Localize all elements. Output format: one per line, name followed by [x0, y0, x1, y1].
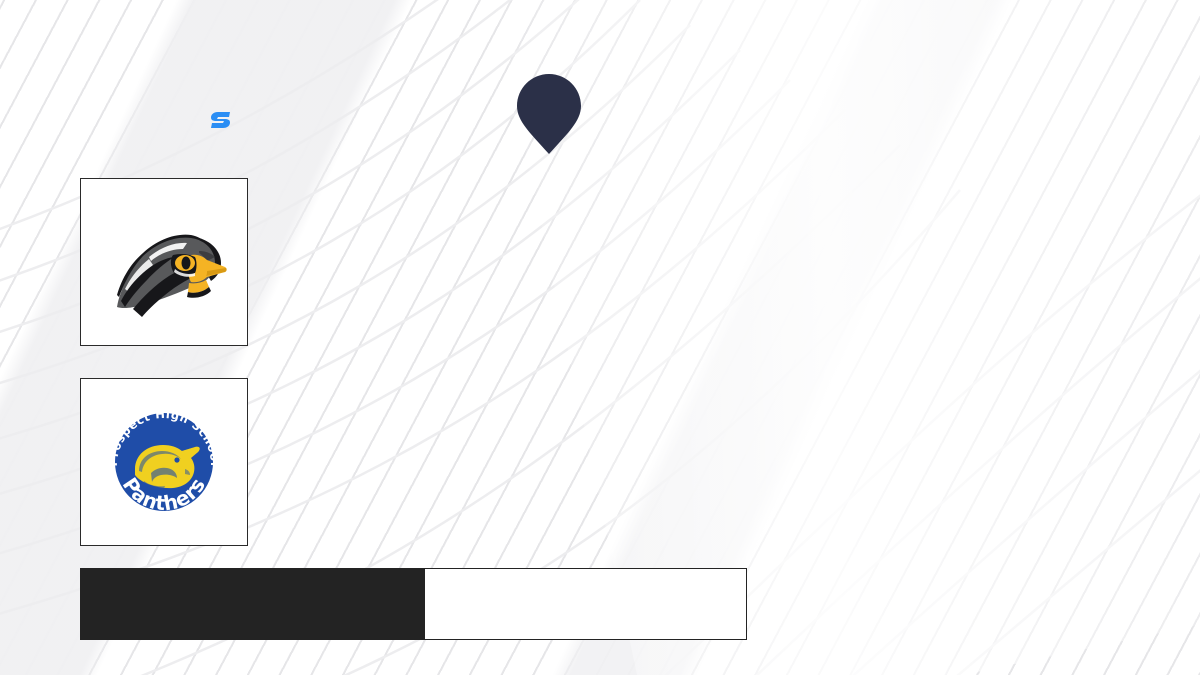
game-info-bar: [80, 568, 747, 640]
panther-seal-icon: Prospect High School Panthers: [99, 397, 229, 527]
sblive-logo[interactable]: [210, 110, 235, 130]
team-logo-box[interactable]: [80, 178, 248, 346]
game-sport-panel[interactable]: [425, 568, 747, 640]
sblive-s-mark-icon: [210, 110, 232, 130]
powered-by-row: [202, 110, 235, 130]
falcon-head-icon: [99, 197, 229, 327]
high-school-on-si-logo[interactable]: [80, 36, 510, 136]
on-si-pin-icon: [517, 74, 581, 154]
game-datetime-panel[interactable]: [80, 568, 425, 640]
team-logo-box[interactable]: Prospect High School Panthers: [80, 378, 248, 546]
matchup-graphic: Prospect High School Panthers: [0, 0, 1200, 675]
